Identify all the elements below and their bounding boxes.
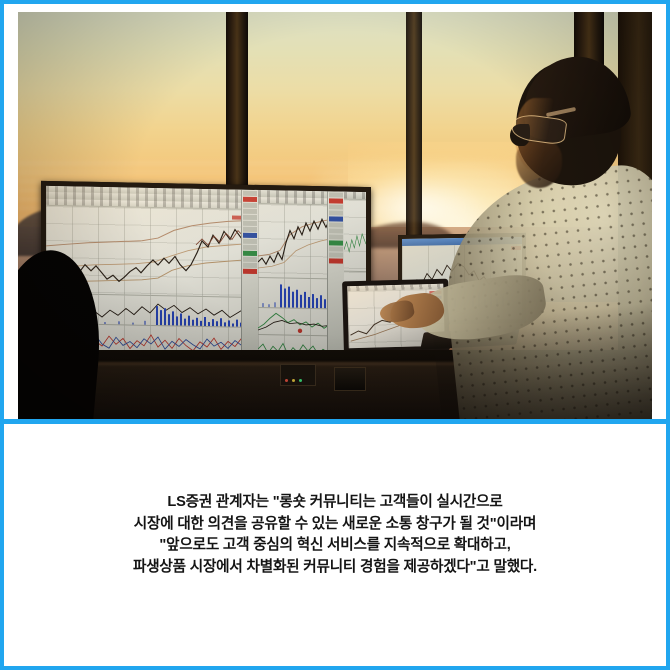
price-ladder-middle <box>327 191 344 361</box>
caption-line-4: 파생상품 시장에서 차별화된 커뮤니티 경험을 제공하겠다"고 말했다. <box>26 557 644 579</box>
caption-line-2: 시장에 대한 의견을 공유할 수 있는 새로운 소통 창구가 될 것"이라며 <box>26 514 644 536</box>
desk-device <box>280 364 316 386</box>
hero-photo <box>18 12 652 420</box>
caption-block: LS증권 관계자는 "롱숏 커뮤니티는 고객들이 실시간으로 시장에 대한 의견… <box>4 492 666 578</box>
caption-line-3: "앞으로도 고객 중심의 혁신 서비스를 지속적으로 확대하고, <box>26 535 644 557</box>
watchlist-chart <box>344 199 366 272</box>
accent-divider <box>4 419 666 424</box>
desktop-speaker <box>334 367 366 391</box>
news-card: LS증권 관계자는 "롱숏 커뮤니티는 고객들이 실시간으로 시장에 대한 의견… <box>0 0 670 670</box>
chart-pane-middle <box>258 190 345 362</box>
caption-line-1: LS증권 관계자는 "롱숏 커뮤니티는 고객들이 실시간으로 <box>26 492 644 514</box>
price-ladder-left <box>241 190 258 360</box>
